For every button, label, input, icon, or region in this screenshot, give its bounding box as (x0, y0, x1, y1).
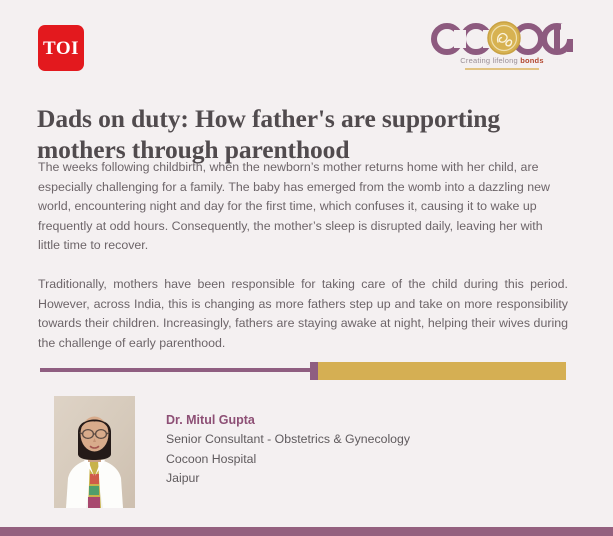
page-title: Dads on duty: How father's are supportin… (37, 103, 582, 165)
author-info: Dr. Mitul Gupta Senior Consultant - Obst… (166, 411, 546, 489)
toi-logo-text: TOI (43, 39, 79, 58)
article-paragraph-2: Traditionally, mothers have been respons… (38, 275, 568, 353)
cocoon-tagline: Creating lifelong bonds (428, 56, 576, 65)
divider-thin-rule (40, 368, 312, 372)
author-hospital: Cocoon Hospital (166, 450, 546, 470)
author-name: Dr. Mitul Gupta (166, 411, 546, 430)
divider-purple-block (310, 362, 318, 380)
author-block: Dr. Mitul Gupta Senior Consultant - Obst… (54, 396, 554, 508)
article-body: The weeks following childbirth, when the… (38, 158, 568, 372)
avatar (54, 396, 135, 508)
author-designation: Senior Consultant - Obstetrics & Gynecol… (166, 430, 546, 450)
footer-accent-bar (0, 527, 613, 536)
toi-logo-icon[interactable]: TOI (38, 25, 84, 71)
header: TOI (0, 0, 613, 88)
cocoon-tagline-prefix: Creating lifelong (460, 56, 520, 65)
cocoon-logo-icon[interactable]: Creating lifelong bonds (428, 18, 576, 74)
cocoon-tagline-highlight: bonds (520, 56, 544, 65)
article-card: TOI (0, 0, 613, 536)
section-divider (0, 360, 613, 384)
cocoon-wordmark (428, 18, 576, 58)
article-paragraph-1: The weeks following childbirth, when the… (38, 158, 568, 256)
author-city: Jaipur (166, 469, 546, 489)
cocoon-underline-accent (465, 68, 539, 70)
divider-gold-bar (318, 362, 566, 380)
